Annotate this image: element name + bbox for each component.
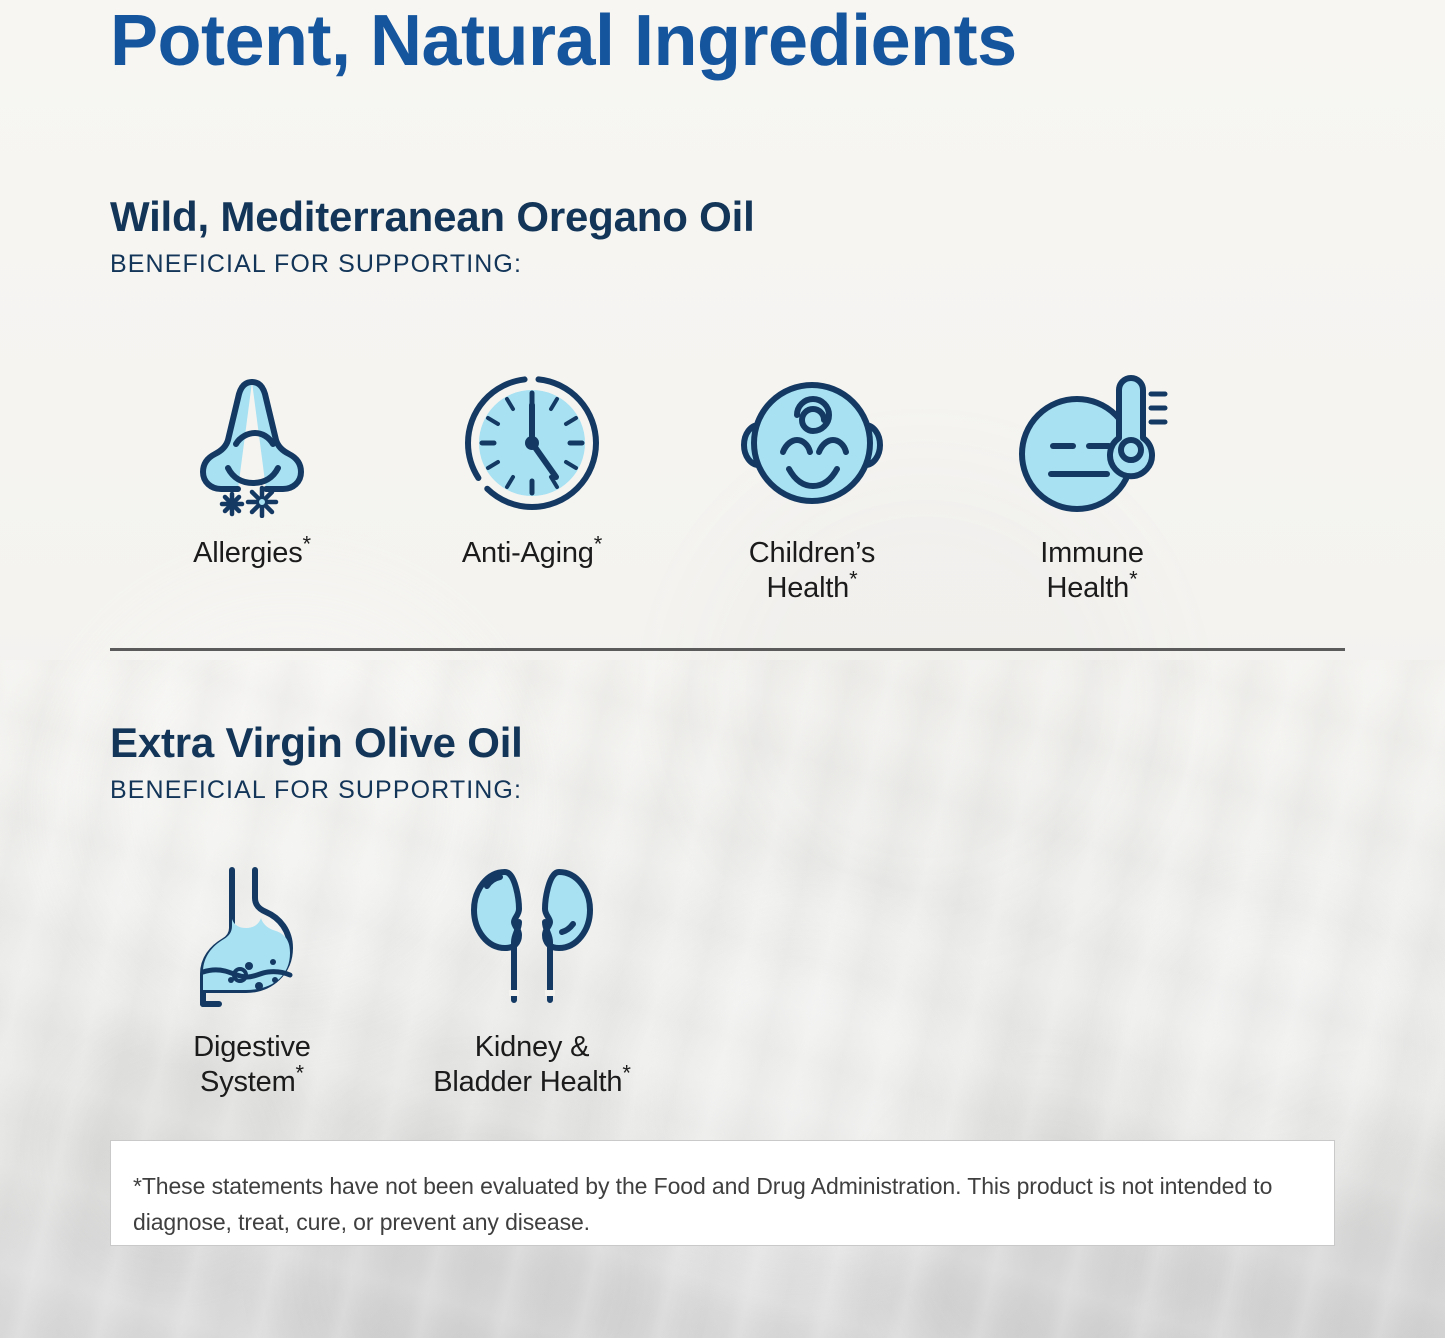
- section-subtitle: BENEFICIAL FOR SUPPORTING:: [110, 252, 755, 277]
- baby-face-icon: [737, 368, 887, 518]
- nose-allergy-icon: [192, 368, 312, 518]
- benefit-item-childrens-health: Children’s Health*: [672, 368, 952, 607]
- benefit-row-oregano: Allergies*: [112, 368, 1232, 607]
- benefit-label-line1: Anti-Aging: [462, 537, 594, 569]
- section-divider: [110, 648, 1345, 651]
- benefit-item-digestive-system: Digestive System*: [112, 862, 392, 1101]
- benefit-label: Immune Health*: [1040, 536, 1144, 607]
- benefit-label-line1: Children’s: [749, 537, 875, 569]
- benefit-item-anti-aging: Anti-Aging*: [392, 368, 672, 571]
- benefit-label: Allergies*: [193, 536, 311, 571]
- benefit-label: Kidney & Bladder Health*: [433, 1030, 630, 1101]
- disclaimer-box: *These statements have not been evaluate…: [110, 1140, 1335, 1246]
- benefit-item-kidney-bladder-health: Kidney & Bladder Health*: [392, 862, 672, 1101]
- section-oregano-oil: Wild, Mediterranean Oregano Oil BENEFICI…: [110, 196, 755, 277]
- clock-icon: [462, 368, 602, 518]
- benefit-label-line1: Kidney &: [475, 1031, 589, 1063]
- benefit-label: Digestive System*: [193, 1030, 310, 1101]
- section-subtitle: BENEFICIAL FOR SUPPORTING:: [110, 778, 523, 803]
- footnote-marker: *: [622, 1061, 630, 1086]
- disclaimer-text: *These statements have not been evaluate…: [133, 1169, 1310, 1240]
- footnote-marker: *: [303, 531, 311, 556]
- benefit-label-line2: Health: [766, 572, 849, 604]
- benefit-label-line1: Digestive: [193, 1031, 310, 1063]
- benefit-label-line1: Allergies: [193, 537, 302, 569]
- benefit-item-allergies: Allergies*: [112, 368, 392, 571]
- ingredients-infographic: Potent, Natural Ingredients Wild, Medite…: [0, 0, 1445, 1338]
- benefit-row-olive: Digestive System*: [112, 862, 672, 1101]
- stomach-icon: [187, 862, 317, 1012]
- benefit-label-line2: System: [200, 1066, 296, 1098]
- benefit-label-line2: Bladder Health: [433, 1066, 622, 1098]
- benefit-label: Anti-Aging*: [462, 536, 602, 571]
- benefit-label: Children’s Health*: [749, 536, 875, 607]
- benefit-item-immune-health: Immune Health*: [952, 368, 1232, 607]
- kidneys-icon: [457, 862, 607, 1012]
- footnote-marker: *: [296, 1061, 304, 1086]
- benefit-label-line2: Health: [1046, 572, 1129, 604]
- section-olive-oil: Extra Virgin Olive Oil BENEFICIAL FOR SU…: [110, 722, 523, 803]
- footnote-marker: *: [1129, 567, 1137, 592]
- footnote-marker: *: [594, 531, 602, 556]
- page-title: Potent, Natural Ingredients: [110, 4, 1017, 80]
- benefit-label-line1: Immune: [1040, 537, 1144, 569]
- section-title: Extra Virgin Olive Oil: [110, 722, 523, 764]
- thermometer-face-icon: [1015, 368, 1170, 518]
- section-title: Wild, Mediterranean Oregano Oil: [110, 196, 755, 238]
- footnote-marker: *: [849, 567, 857, 592]
